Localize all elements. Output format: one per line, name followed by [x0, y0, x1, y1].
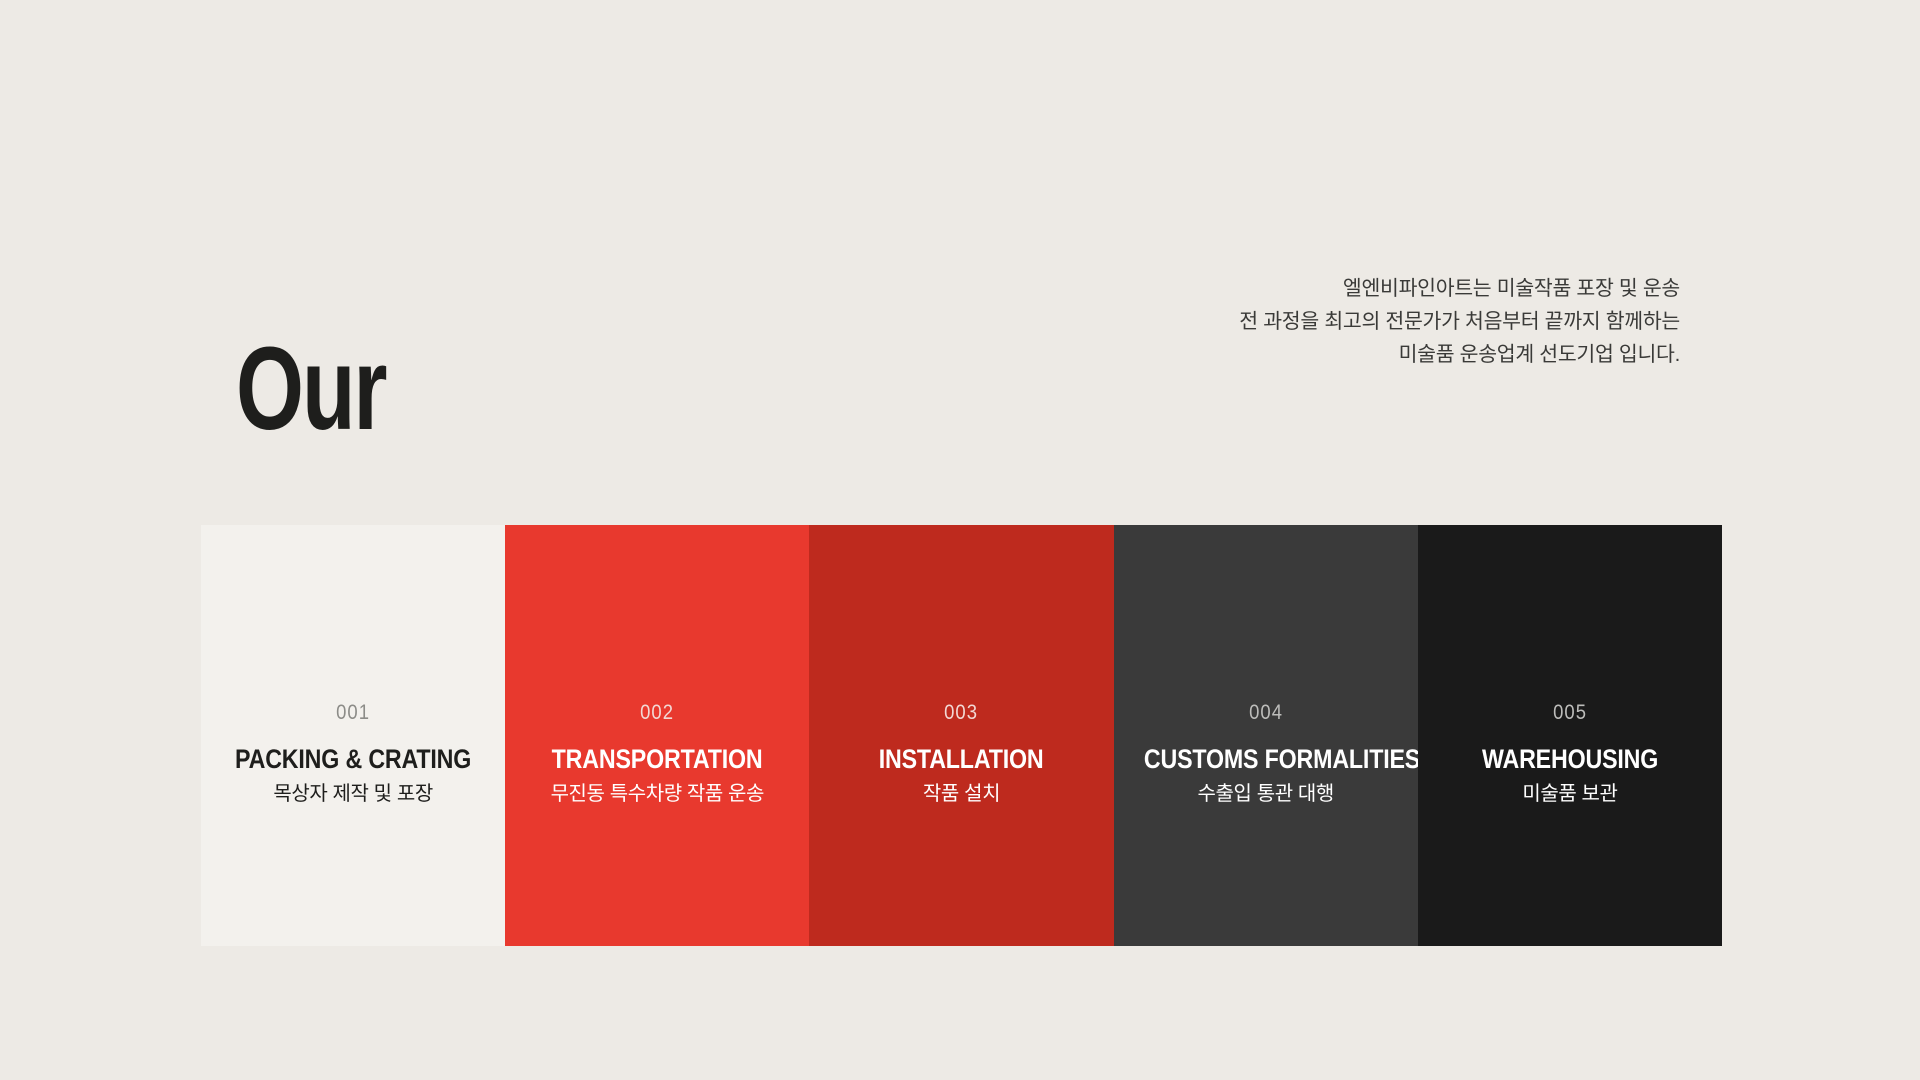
intro-paragraph: 엘엔비파인아트는 미술작품 포장 및 운송 전 과정을 최고의 전문가가 처음부…	[1060, 272, 1680, 372]
page-header: Our Service 엘엔비파인아트는 미술작품 포장 및 운송 전 과정을 …	[0, 0, 1920, 400]
page-title-line-1: Our	[236, 335, 534, 444]
intro-line-3: 미술품 운송업계 선도기업 입니다.	[1060, 338, 1680, 371]
service-card-number: 001	[228, 702, 478, 723]
intro-line-1: 엘엔비파인아트는 미술작품 포장 및 운송	[1060, 272, 1680, 305]
service-card-subtitle: 작품 설치	[819, 781, 1103, 808]
service-card-title: INSTALLATION	[839, 745, 1083, 774]
service-card-content: 001PACKING & CRATING목상자 제작 및 포장	[201, 702, 505, 808]
service-card-title: PACKING & CRATING	[231, 745, 475, 774]
service-card-content: 005WAREHOUSING미술품 보관	[1418, 702, 1722, 808]
service-card-004[interactable]: 004CUSTOMS FORMALITIES수출입 통관 대행	[1114, 525, 1418, 946]
service-card-title: TRANSPORTATION	[535, 745, 779, 774]
service-card-003[interactable]: 003INSTALLATION작품 설치	[809, 525, 1113, 946]
page-root: Our Service 엘엔비파인아트는 미술작품 포장 및 운송 전 과정을 …	[0, 0, 1920, 1080]
service-card-subtitle: 수출입 통관 대행	[1124, 781, 1408, 808]
service-card-subtitle: 미술품 보관	[1428, 781, 1712, 808]
service-card-001[interactable]: 001PACKING & CRATING목상자 제작 및 포장	[201, 525, 505, 946]
service-card-content: 003INSTALLATION작품 설치	[809, 702, 1113, 808]
service-card-number: 005	[1445, 702, 1695, 723]
service-card-number: 004	[1141, 702, 1391, 723]
service-card-subtitle: 목상자 제작 및 포장	[211, 781, 495, 808]
service-card-subtitle: 무진동 특수차량 작품 운송	[515, 781, 799, 808]
service-card-number: 003	[836, 702, 1086, 723]
service-card-002[interactable]: 002TRANSPORTATION무진동 특수차량 작품 운송	[505, 525, 809, 946]
service-card-content: 002TRANSPORTATION무진동 특수차량 작품 운송	[505, 702, 809, 808]
intro-line-2: 전 과정을 최고의 전문가가 처음부터 끝까지 함께하는	[1060, 305, 1680, 338]
service-card-number: 002	[532, 702, 782, 723]
service-card-title: CUSTOMS FORMALITIES	[1144, 745, 1388, 774]
service-card-strip: 001PACKING & CRATING목상자 제작 및 포장002TRANSP…	[201, 525, 1722, 946]
service-card-content: 004CUSTOMS FORMALITIES수출입 통관 대행	[1114, 702, 1418, 808]
service-card-title: WAREHOUSING	[1448, 745, 1692, 774]
service-card-005[interactable]: 005WAREHOUSING미술품 보관	[1418, 525, 1722, 946]
